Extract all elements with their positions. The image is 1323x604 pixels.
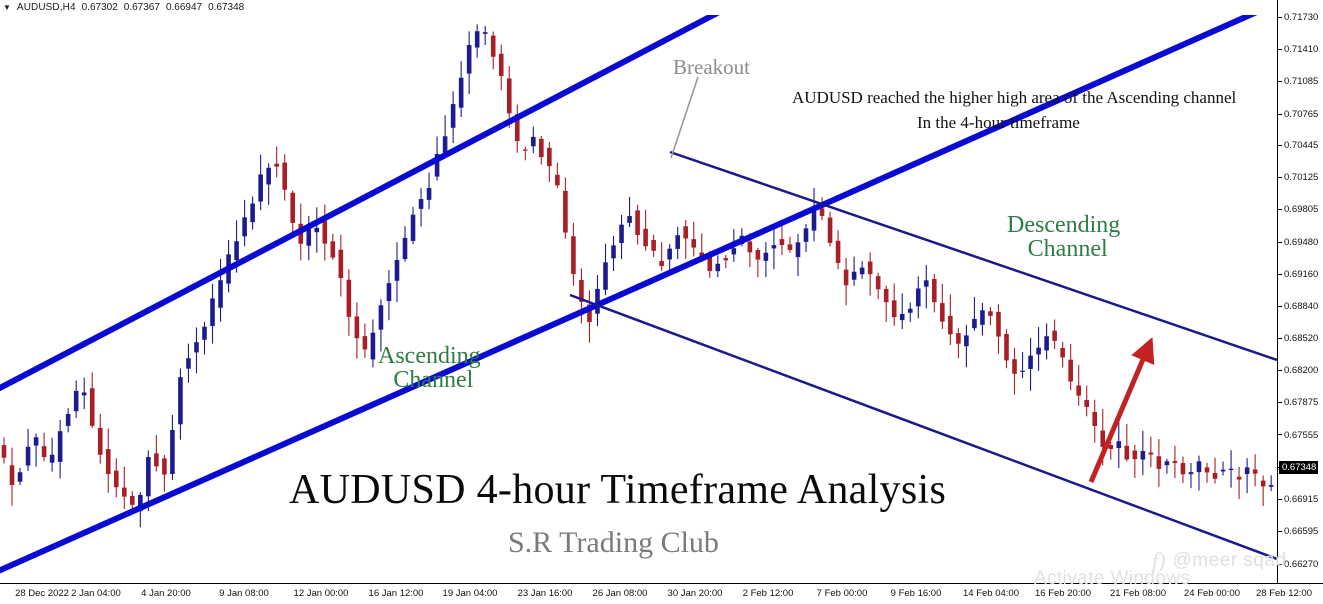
candle-body <box>643 229 648 246</box>
candle-body <box>571 236 576 274</box>
candle-body <box>306 229 311 245</box>
candle-body <box>996 312 1001 337</box>
price-tick: 0.68520 <box>1278 333 1318 344</box>
candle-body <box>555 175 560 186</box>
candle-body <box>876 276 881 289</box>
candle-body <box>868 262 873 275</box>
candle-body <box>683 226 688 238</box>
time-tick: 12 Jan 00:00 <box>294 588 349 599</box>
price-tick: 0.71410 <box>1278 44 1318 55</box>
time-tick: 16 Jan 12:00 <box>369 588 424 599</box>
candle-body <box>924 280 929 286</box>
candle-body <box>1157 456 1162 469</box>
price-tick: 0.69805 <box>1278 204 1318 215</box>
candle-body <box>932 279 937 302</box>
candle-body <box>1052 331 1057 341</box>
candle-body <box>836 241 841 263</box>
quote-high: 0.67367 <box>124 2 160 13</box>
candle-body <box>980 310 985 325</box>
candle-body <box>234 241 239 260</box>
candle-body <box>635 210 640 235</box>
candle-body <box>290 193 295 223</box>
candle-body <box>491 36 496 57</box>
candle-body <box>266 168 271 185</box>
triangle-down-icon[interactable]: ▼ <box>3 4 11 12</box>
candle-body <box>1060 348 1065 357</box>
candle-body <box>314 228 319 232</box>
candle-body <box>1269 485 1274 487</box>
candle-body <box>691 239 696 247</box>
candle-body <box>74 391 79 411</box>
candle-body <box>1189 472 1194 474</box>
candle-body <box>18 472 23 481</box>
candle-body <box>331 241 336 257</box>
candle-body <box>98 428 103 455</box>
price-tick: 0.70125 <box>1278 172 1318 183</box>
candle-body <box>908 309 913 313</box>
candle-body <box>603 262 608 289</box>
candle-body <box>58 431 63 462</box>
candle-body <box>1229 469 1234 470</box>
candle-body <box>451 104 456 128</box>
candle-body <box>780 239 785 245</box>
candle-body <box>395 260 400 281</box>
candle-body <box>988 311 993 316</box>
price-tick: 0.69480 <box>1278 237 1318 248</box>
candle-body <box>1149 452 1154 454</box>
candle-body <box>170 430 175 474</box>
quote-close: 0.67348 <box>208 2 244 13</box>
candle-body <box>1253 469 1258 473</box>
time-tick: 26 Jan 08:00 <box>593 588 648 599</box>
quote-low: 0.66947 <box>166 2 202 13</box>
candle-body <box>852 272 857 280</box>
time-tick: 28 Dec 2022 <box>15 588 69 599</box>
price-tick: 0.68840 <box>1278 301 1318 312</box>
candle-body <box>250 204 255 223</box>
candle-body <box>651 240 656 251</box>
candle-body <box>772 245 777 248</box>
price-axis[interactable]: 0.717300.714100.710850.707650.704450.701… <box>1277 0 1323 583</box>
price-tick: 0.67875 <box>1278 397 1318 408</box>
candle-body <box>675 235 680 249</box>
candle-body <box>66 414 71 426</box>
price-tick: 0.66595 <box>1278 526 1318 537</box>
analysis-note-line-1: AUDUSD reached the higher high area of t… <box>792 88 1236 108</box>
candle-body <box>282 162 287 189</box>
candle-body <box>427 188 432 200</box>
candle-body <box>804 228 809 241</box>
candle-body <box>419 199 424 209</box>
candle-body <box>483 32 488 34</box>
brand-handle-label: @meer sqad <box>1172 550 1286 572</box>
time-tick: 9 Feb 16:00 <box>891 588 942 599</box>
symbol-label: AUDUSD,H4 <box>17 2 76 13</box>
candle-body <box>1173 461 1178 463</box>
candle-body <box>1133 451 1138 459</box>
candle-body <box>1036 348 1041 355</box>
time-tick: 2 Feb 12:00 <box>743 588 794 599</box>
candle-body <box>956 333 961 344</box>
candle-body <box>411 215 416 241</box>
time-tick: 23 Jan 16:00 <box>518 588 573 599</box>
candle-body <box>531 137 536 146</box>
breakout-pointer <box>671 77 698 158</box>
price-tick: 0.70765 <box>1278 109 1318 120</box>
candle-body <box>186 358 191 368</box>
candle-body <box>724 258 729 260</box>
candle-body <box>1084 400 1089 407</box>
time-tick: 14 Feb 04:00 <box>963 588 1019 599</box>
candle-body <box>34 437 39 445</box>
candle-body <box>467 45 472 74</box>
time-tick: 28 Feb 12:00 <box>1256 588 1312 599</box>
candle-body <box>114 471 119 488</box>
time-tick: 24 Feb 00:00 <box>1184 588 1240 599</box>
descending-channel-label-line2: Channel <box>1015 237 1120 261</box>
candle-body <box>547 148 552 166</box>
price-tick: 0.69160 <box>1278 269 1318 280</box>
candle-body <box>764 253 769 261</box>
candle-body <box>459 78 464 108</box>
candle-body <box>1181 463 1186 474</box>
candle-body <box>347 280 352 317</box>
candle-body <box>1237 477 1242 480</box>
candle-body <box>2 445 7 458</box>
candle-body <box>900 314 905 320</box>
candle-body <box>756 250 761 260</box>
candle-body <box>507 78 512 113</box>
candle-body <box>363 336 368 349</box>
price-tick: 0.70445 <box>1278 140 1318 151</box>
candle-body <box>523 150 528 151</box>
candle-body <box>218 280 223 307</box>
descending-channel-lower[interactable] <box>570 295 1277 559</box>
price-tick: 0.67555 <box>1278 430 1318 441</box>
candle-body <box>355 316 360 338</box>
ascending-channel-label-line1: Ascending <box>378 343 481 369</box>
descending-channel-label-line1: Descending <box>1007 212 1120 238</box>
ascending-channel-label: Ascending Channel <box>378 344 481 392</box>
price-tick: 0.66915 <box>1278 494 1318 505</box>
candle-body <box>1197 461 1202 472</box>
candle-body <box>563 191 568 233</box>
candle-body <box>371 333 376 360</box>
price-tick: 0.71085 <box>1278 76 1318 87</box>
candle-body <box>42 446 47 457</box>
candle-body <box>1205 467 1210 472</box>
time-tick: 2 Jan 04:00 <box>71 588 121 599</box>
candle-body <box>892 300 897 317</box>
candle-body <box>884 289 889 302</box>
candle-body <box>274 164 279 167</box>
candle-body <box>1068 360 1073 382</box>
candle-body <box>122 488 127 497</box>
candle-body <box>611 245 616 258</box>
candle-body <box>948 316 953 334</box>
candle-body <box>1141 451 1146 460</box>
candle-body <box>860 268 865 275</box>
current-price-badge: 0.67348 <box>1279 461 1318 474</box>
candle-body <box>242 217 247 236</box>
time-tick: 4 Jan 20:00 <box>141 588 191 599</box>
time-tick: 19 Jan 04:00 <box>443 588 498 599</box>
candle-body <box>1044 336 1049 350</box>
candle-body <box>403 238 408 259</box>
candle-body <box>627 216 632 223</box>
candle-body <box>154 453 159 466</box>
candle-body <box>387 283 392 301</box>
trading-chart-screenshot: ▼ AUDUSD,H4 0.67302 0.67367 0.66947 0.67… <box>0 0 1323 604</box>
price-tick: 0.68200 <box>1278 365 1318 376</box>
candle-body <box>178 377 183 424</box>
candle-body <box>972 319 977 328</box>
candle-body <box>1076 385 1081 395</box>
candle-body <box>162 458 167 474</box>
candle-body <box>1116 441 1121 448</box>
candle-body <box>1221 470 1226 472</box>
candle-body <box>1213 473 1218 479</box>
ascending-channel-label-line2: Channel <box>386 368 481 392</box>
candle-body <box>1165 461 1170 465</box>
candle-body <box>667 249 672 260</box>
candle-body <box>26 447 31 466</box>
candle-body <box>90 388 95 425</box>
candle-body <box>339 250 344 278</box>
candle-body <box>844 270 849 286</box>
candle-body <box>82 392 87 395</box>
candle-body <box>379 305 384 329</box>
candle-body <box>715 264 720 271</box>
descending-channel-label: Descending Channel <box>1007 213 1120 261</box>
candle-body <box>1020 371 1025 372</box>
candle-body <box>50 455 55 463</box>
time-tick: 7 Feb 00:00 <box>817 588 868 599</box>
candle-body <box>619 225 624 243</box>
candle-body <box>1028 356 1033 369</box>
descending-channel-upper[interactable] <box>670 152 1277 360</box>
candle-body <box>828 217 833 242</box>
candle-body <box>659 261 664 266</box>
candle-body <box>1245 467 1250 474</box>
candle-body <box>499 54 504 76</box>
candle-body <box>475 31 480 47</box>
candle-body <box>916 288 921 306</box>
candle-body <box>539 139 544 157</box>
candle-body <box>194 342 199 352</box>
quote-open: 0.67302 <box>82 2 118 13</box>
candle-body <box>1261 481 1266 487</box>
candle-body <box>732 248 737 254</box>
breakout-annotation: Breakout <box>673 55 750 80</box>
candle-body <box>820 208 825 216</box>
candle-body <box>796 242 801 257</box>
chart-subtitle: S.R Trading Club <box>508 526 719 560</box>
time-tick: 9 Jan 08:00 <box>219 588 269 599</box>
candle-body <box>964 335 969 346</box>
candle-body <box>788 244 793 250</box>
chart-title: AUDUSD 4-hour Timeframe Analysis <box>289 466 946 514</box>
brand-watermark: f) @meer sqad <box>1152 548 1287 574</box>
candle-body <box>130 496 135 505</box>
analysis-note-line-2: In the 4-hour timeframe <box>917 113 1080 133</box>
quote-bar: ▼ AUDUSD,H4 0.67302 0.67367 0.66947 0.67… <box>0 0 1323 15</box>
candle-body <box>940 303 945 322</box>
candle-body <box>1012 359 1017 374</box>
brand-logo-icon: f) <box>1152 548 1165 574</box>
candle-body <box>146 457 151 496</box>
candle-body <box>106 449 111 474</box>
candle-body <box>1004 334 1009 360</box>
candle-body <box>1125 446 1130 460</box>
candle-body <box>210 298 215 326</box>
time-tick: 30 Jan 20:00 <box>668 588 723 599</box>
candle-body <box>10 465 15 485</box>
candle-body <box>748 241 753 252</box>
candle-body <box>258 174 263 201</box>
candle-body <box>323 221 328 244</box>
candle-body <box>202 327 207 340</box>
candle-body <box>1092 412 1097 426</box>
